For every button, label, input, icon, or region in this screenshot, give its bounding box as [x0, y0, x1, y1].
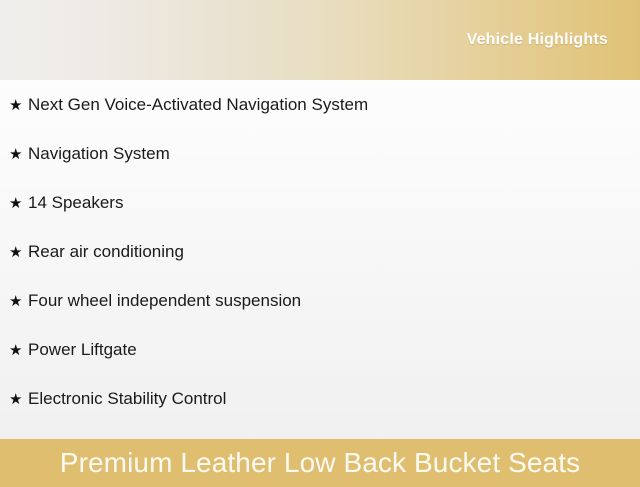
list-item: ★ Rear air conditioning — [0, 243, 640, 292]
vehicle-highlights-list: ★ Next Gen Voice-Activated Navigation Sy… — [0, 80, 640, 439]
star-icon: ★ — [9, 245, 28, 260]
star-icon: ★ — [9, 98, 28, 113]
star-icon: ★ — [9, 392, 28, 407]
highlight-label: Next Gen Voice-Activated Navigation Syst… — [28, 96, 640, 113]
highlight-label: Power Liftgate — [28, 341, 640, 358]
list-item: ★ Next Gen Voice-Activated Navigation Sy… — [0, 96, 640, 145]
highlight-label: 14 Speakers — [28, 194, 640, 211]
list-item: ★ Power Liftgate — [0, 341, 640, 390]
header-banner: Vehicle Highlights — [0, 0, 640, 80]
star-icon: ★ — [9, 196, 28, 211]
highlight-label: Four wheel independent suspension — [28, 292, 640, 309]
highlight-label: Electronic Stability Control — [28, 390, 640, 407]
star-icon: ★ — [9, 294, 28, 309]
star-icon: ★ — [9, 343, 28, 358]
highlight-label: Navigation System — [28, 145, 640, 162]
list-item: ★ Navigation System — [0, 145, 640, 194]
star-icon: ★ — [9, 147, 28, 162]
page-title: Vehicle Highlights — [467, 31, 608, 49]
list-item: ★ Four wheel independent suspension — [0, 292, 640, 341]
highlight-label: Rear air conditioning — [28, 243, 640, 260]
vehicle-highlights-panel: Vehicle Highlights ★ Next Gen Voice-Acti… — [0, 0, 640, 480]
footer-label: Premium Leather Low Back Bucket Seats — [60, 449, 580, 477]
list-item: ★ 14 Speakers — [0, 194, 640, 243]
list-item: ★ Electronic Stability Control — [0, 390, 640, 439]
